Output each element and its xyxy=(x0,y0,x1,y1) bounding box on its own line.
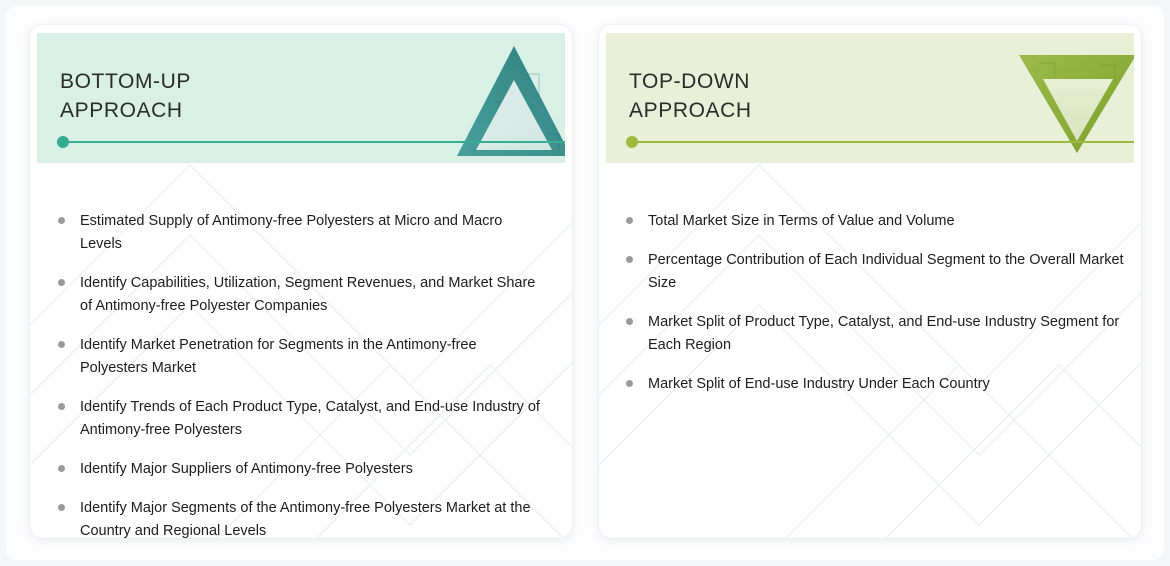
list-item: Identify Trends of Each Product Type, Ca… xyxy=(58,396,546,442)
list-item: Identify Major Segments of the Antimony-… xyxy=(58,497,546,538)
card-header-bottom-up: BOTTOM-UP APPROACH xyxy=(37,33,565,163)
page-title-top-down: TOP-DOWN APPROACH xyxy=(629,67,752,125)
list-item: Market Split of End-use Industry Under E… xyxy=(626,373,1127,396)
bullet-list-bottom-up: Estimated Supply of Antimony-free Polyes… xyxy=(30,210,572,538)
bullet-dot-icon xyxy=(58,341,65,348)
bullet-dot-icon xyxy=(58,465,65,472)
accent-dot xyxy=(57,136,69,148)
triangle-up-icon xyxy=(455,38,565,163)
bullet-dot-icon xyxy=(626,380,633,387)
list-item-label: Total Market Size in Terms of Value and … xyxy=(648,210,955,233)
list-item-label: Identify Major Segments of the Antimony-… xyxy=(80,497,545,538)
bullet-dot-icon xyxy=(58,504,65,511)
bullet-list-top-down: Total Market Size in Terms of Value and … xyxy=(599,210,1141,412)
card-bottom-up-approach: BOTTOM-UP APPROACH Estimated Supply of A… xyxy=(30,25,572,538)
triangle-down-icon xyxy=(1015,33,1134,158)
list-item-label: Market Split of Product Type, Catalyst, … xyxy=(648,311,1127,357)
list-item: Identify Capabilities, Utilization, Segm… xyxy=(58,272,546,318)
bullet-dot-icon xyxy=(58,217,65,224)
list-item: Market Split of Product Type, Catalyst, … xyxy=(626,311,1127,357)
list-item-label: Identify Major Suppliers of Antimony-fre… xyxy=(80,458,413,481)
list-item: Estimated Supply of Antimony-free Polyes… xyxy=(58,210,546,256)
list-item: Identify Major Suppliers of Antimony-fre… xyxy=(58,458,546,481)
list-item: Identify Market Penetration for Segments… xyxy=(58,334,546,380)
bullet-dot-icon xyxy=(626,318,633,325)
card-header-top-down: TOP-DOWN APPROACH xyxy=(606,33,1134,163)
card-top-down-approach: TOP-DOWN APPROACH Total Market Size in T… xyxy=(599,25,1141,538)
accent-dot xyxy=(626,136,638,148)
bullet-dot-icon xyxy=(626,256,633,263)
list-item-label: Estimated Supply of Antimony-free Polyes… xyxy=(80,210,545,256)
list-item-label: Identify Market Penetration for Segments… xyxy=(80,334,545,380)
page-title-bottom-up: BOTTOM-UP APPROACH xyxy=(60,67,191,125)
list-item-label: Identify Capabilities, Utilization, Segm… xyxy=(80,272,545,318)
list-item: Total Market Size in Terms of Value and … xyxy=(626,210,1127,233)
bullet-dot-icon xyxy=(626,217,633,224)
accent-rule xyxy=(60,141,565,143)
list-item-label: Percentage Contribution of Each Individu… xyxy=(648,249,1127,295)
bullet-dot-icon xyxy=(58,279,65,286)
list-item-label: Identify Trends of Each Product Type, Ca… xyxy=(80,396,545,442)
bullet-dot-icon xyxy=(58,403,65,410)
list-item-label: Market Split of End-use Industry Under E… xyxy=(648,373,990,396)
accent-rule xyxy=(629,141,1134,143)
list-item: Percentage Contribution of Each Individu… xyxy=(626,249,1127,295)
